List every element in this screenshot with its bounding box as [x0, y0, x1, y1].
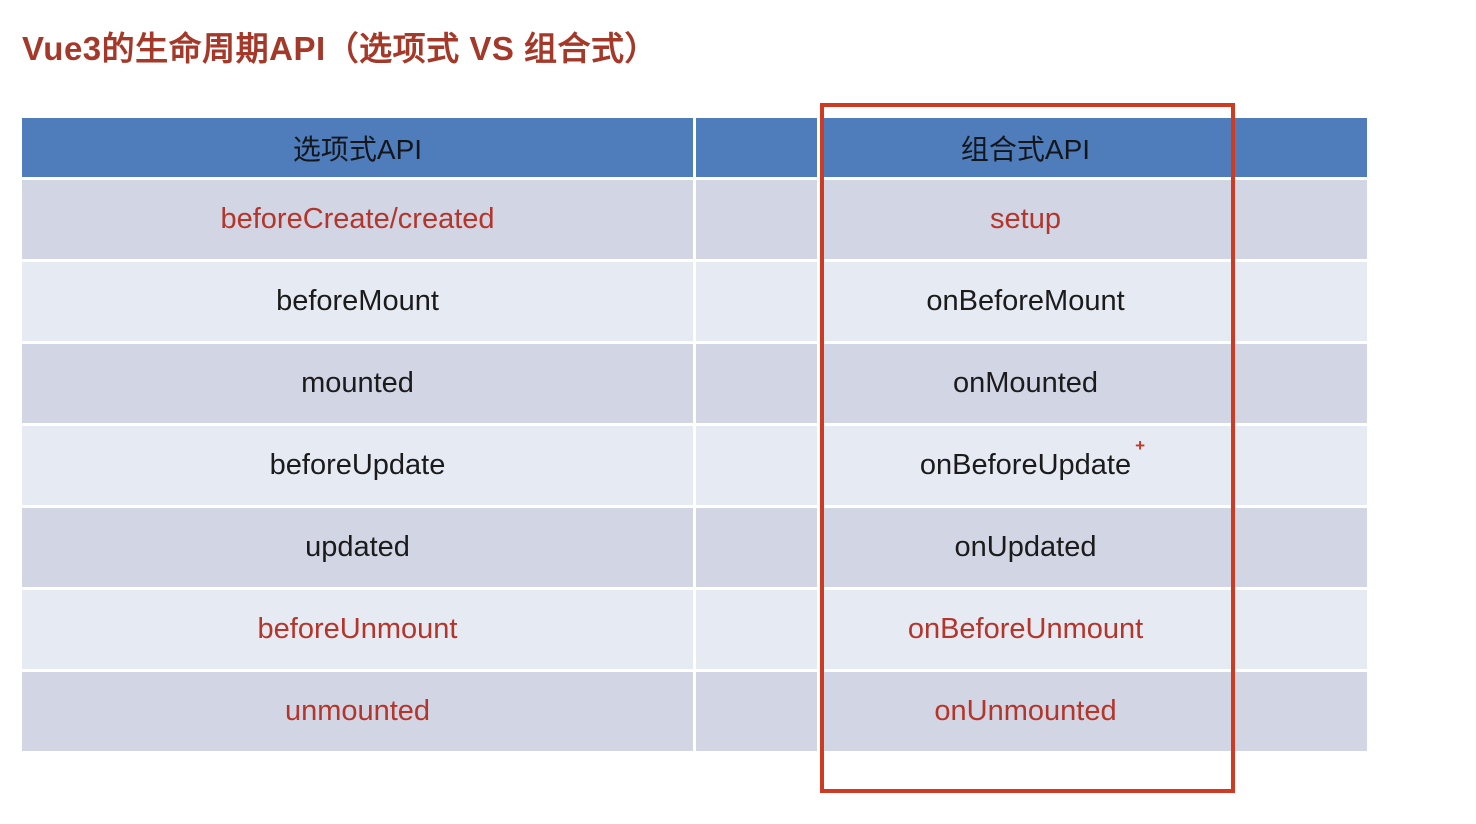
cell-options-api: updated: [22, 508, 696, 590]
cell-composition-api: onUnmounted: [820, 672, 1234, 754]
cell-options-api: mounted: [22, 344, 696, 426]
cell-options-api: beforeUnmount: [22, 590, 696, 672]
cell-spacer: [696, 672, 820, 754]
cell-tail: [1234, 426, 1367, 508]
cell-composition-api-label: setup: [990, 203, 1061, 236]
cell-options-api: beforeCreate/created: [22, 180, 696, 262]
cell-tail: [1234, 180, 1367, 262]
cell-options-api: beforeUpdate: [22, 426, 696, 508]
column-header-spacer: [696, 118, 820, 180]
cell-spacer: [696, 344, 820, 426]
cell-spacer: [696, 508, 820, 590]
cell-spacer: [696, 590, 820, 672]
table-row: mountedonMounted: [22, 344, 1367, 426]
cell-spacer: [696, 262, 820, 344]
cell-spacer: [696, 426, 820, 508]
cell-tail: [1234, 262, 1367, 344]
cell-composition-api-label: onUnmounted: [934, 695, 1116, 728]
table-row: beforeMountonBeforeMount: [22, 262, 1367, 344]
plus-marker-icon: +: [1135, 437, 1145, 454]
cell-tail: [1234, 672, 1367, 754]
cell-composition-api-label: onBeforeUnmount: [908, 613, 1143, 646]
cell-composition-api-label: onMounted: [953, 367, 1098, 400]
cell-tail: [1234, 590, 1367, 672]
cell-options-api: beforeMount: [22, 262, 696, 344]
cell-spacer: [696, 180, 820, 262]
cell-composition-api: setup: [820, 180, 1234, 262]
cell-composition-api: onMounted: [820, 344, 1234, 426]
table-header-row: 选项式API 组合式API: [22, 118, 1367, 180]
cell-composition-api: onBeforeUpdate+: [820, 426, 1234, 508]
cell-options-api: unmounted: [22, 672, 696, 754]
cell-composition-api-label: onBeforeUpdate+: [920, 449, 1131, 482]
cell-tail: [1234, 508, 1367, 590]
cell-composition-api: onBeforeUnmount: [820, 590, 1234, 672]
page-title: Vue3的生命周期API（选项式 VS 组合式）: [22, 26, 658, 72]
table-row: beforeCreate/createdsetup: [22, 180, 1367, 262]
table-header: 选项式API 组合式API: [22, 118, 1367, 180]
cell-composition-api: onBeforeMount: [820, 262, 1234, 344]
table-row: updatedonUpdated: [22, 508, 1367, 590]
column-header-composition-api: 组合式API: [820, 118, 1234, 180]
table-row: beforeUnmountonBeforeUnmount: [22, 590, 1367, 672]
cell-composition-api-label: onUpdated: [955, 531, 1097, 564]
lifecycle-comparison-table: 选项式API 组合式API beforeCreate/createdsetupb…: [22, 118, 1367, 754]
table-row: unmountedonUnmounted: [22, 672, 1367, 754]
cell-tail: [1234, 344, 1367, 426]
column-header-tail: [1234, 118, 1367, 180]
cell-composition-api-label: onBeforeMount: [926, 285, 1124, 318]
table-body: beforeCreate/createdsetupbeforeMountonBe…: [22, 180, 1367, 754]
column-header-options-api: 选项式API: [22, 118, 696, 180]
table-row: beforeUpdateonBeforeUpdate+: [22, 426, 1367, 508]
cell-composition-api: onUpdated: [820, 508, 1234, 590]
